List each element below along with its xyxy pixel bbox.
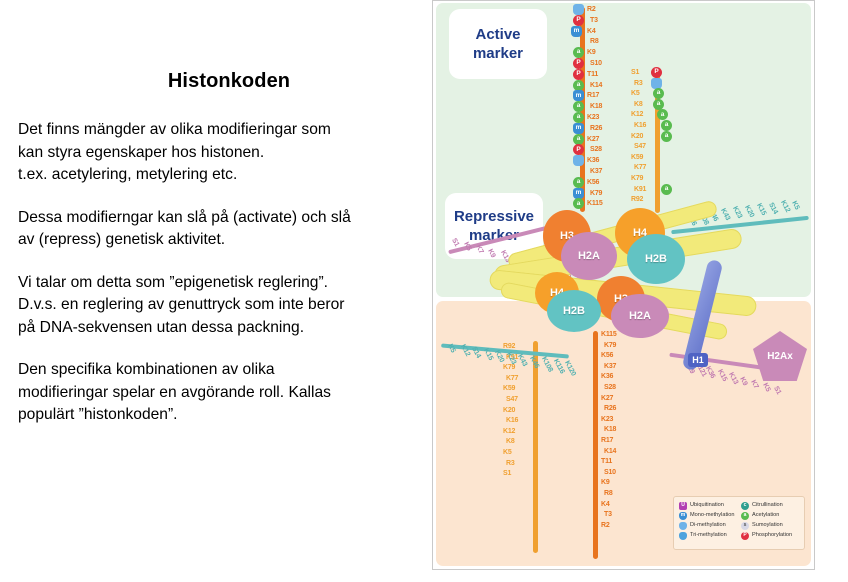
legend-label: Di-methylation bbox=[690, 521, 726, 530]
legend-glyph-ubiquitination-icon: U bbox=[679, 502, 687, 510]
active-marker-line2: marker bbox=[473, 44, 523, 63]
modification-marker-h3-residue-active-k27: a bbox=[573, 134, 584, 145]
h4-residue-active-k91: K91 bbox=[634, 186, 646, 193]
h4-residue-repressive-k20: K20 bbox=[503, 407, 515, 414]
h3-tail-repressive bbox=[593, 331, 598, 559]
modification-marker-h4-residue-active-k16: a bbox=[661, 120, 672, 131]
legend-label: Tri-methylation bbox=[690, 531, 727, 540]
modification-marker-h3-residue-active-t11: P bbox=[573, 69, 584, 80]
h3-residue-repressive-k18: K18 bbox=[604, 426, 616, 433]
modification-marker-h3-residue-active-k79: m bbox=[573, 188, 584, 199]
h3-residue-repressive-k9: K9 bbox=[601, 479, 610, 486]
histone-blob-h2b-lower: H2B bbox=[547, 290, 601, 332]
h3-residue-active-k27: K27 bbox=[587, 136, 599, 143]
h3-residue-repressive-s28: S28 bbox=[604, 384, 616, 391]
h3-residue-repressive-k36: K36 bbox=[601, 373, 613, 380]
h3-residue-repressive-k115: K115 bbox=[601, 331, 617, 338]
h4-residue-repressive-k77: K77 bbox=[506, 375, 518, 382]
legend-glyph-di-methylation-icon bbox=[679, 522, 687, 530]
h3-residue-repressive-r2: R2 bbox=[601, 522, 610, 529]
h3-residue-repressive-r26: R26 bbox=[604, 405, 616, 412]
legend-label: Phosphorylation bbox=[752, 531, 792, 540]
legend-glyph-tri-methylation-icon bbox=[679, 532, 687, 540]
legend-label: Acetylation bbox=[752, 511, 779, 520]
h3-residue-active-t3: T3 bbox=[590, 17, 598, 24]
modification-marker-h3-residue-active-t3: P bbox=[573, 15, 584, 26]
legend-item-ubiquitination: UUbiquitination bbox=[679, 501, 737, 510]
h4-residue-repressive-k12: K12 bbox=[503, 428, 515, 435]
h3-residue-repressive-t11: T11 bbox=[601, 458, 612, 465]
body-paragraph-3: Vi talar om detta som ”epigenetisk regle… bbox=[18, 272, 430, 340]
h3-residue-repressive-r17: R17 bbox=[601, 437, 613, 444]
legend-glyph-mono-methylation-icon: m bbox=[679, 512, 687, 520]
h3-residue-repressive-k4: K4 bbox=[601, 501, 610, 508]
modification-marker-h3-residue-active-k36 bbox=[573, 155, 584, 166]
h4-residue-active-k8: K8 bbox=[634, 101, 643, 108]
h4-residue-active-r3: R3 bbox=[634, 80, 643, 87]
modification-marker-h3-residue-active-r17: m bbox=[573, 90, 584, 101]
h3-residue-active-k37: K37 bbox=[590, 168, 602, 175]
legend-item-citrullination: cCitrullination bbox=[741, 501, 799, 510]
h4-residue-repressive-s1: S1 bbox=[503, 470, 511, 477]
h4-residue-active-k5: K5 bbox=[631, 90, 640, 97]
legend-item-tri-methylation: Tri-methylation bbox=[679, 531, 737, 540]
h3-residue-active-s28: S28 bbox=[590, 146, 602, 153]
legend-label: Ubiquitination bbox=[690, 501, 724, 510]
h3-residue-active-k14: K14 bbox=[590, 82, 602, 89]
h4-tail-repressive bbox=[533, 341, 538, 553]
h4-residue-repressive-s47: S47 bbox=[506, 396, 518, 403]
h3-residue-active-r17: R17 bbox=[587, 92, 599, 99]
h4-residue-repressive-r3: R3 bbox=[506, 460, 515, 467]
h3-residue-active-r8: R8 bbox=[590, 38, 599, 45]
legend-glyph-citrullination-icon: c bbox=[741, 502, 749, 510]
modification-marker-h3-residue-active-k14: a bbox=[573, 80, 584, 91]
modification-marker-h3-residue-active-r2 bbox=[573, 4, 584, 15]
modification-marker-h3-residue-active-r26: m bbox=[573, 123, 584, 134]
body-paragraph-1: Det finns mängder av olika modifieringar… bbox=[18, 119, 430, 187]
h3-residue-active-k36: K36 bbox=[587, 157, 599, 164]
h1-label: H1 bbox=[688, 353, 708, 367]
h3-residue-active-s10: S10 bbox=[590, 60, 602, 67]
legend-label: Citrullination bbox=[752, 501, 783, 510]
slide-canvas: Histonkoden Det finns mängder av olika m… bbox=[0, 0, 848, 582]
legend-glyph-acetylation-icon: a bbox=[741, 512, 749, 520]
h3-residue-active-r2: R2 bbox=[587, 6, 596, 13]
modification-marker-h3-residue-active-k4: m bbox=[571, 26, 582, 37]
modification-legend: UUbiquitinationcCitrullinationmMono-meth… bbox=[673, 496, 805, 550]
h3-residue-active-k4: K4 bbox=[587, 28, 596, 35]
page-title: Histonkoden bbox=[18, 70, 430, 93]
legend-item-di-methylation: Di-methylation bbox=[679, 521, 737, 530]
active-marker-line1: Active bbox=[475, 25, 520, 44]
legend-glyph-sumoylation-icon: s bbox=[741, 522, 749, 530]
h3-residue-active-k79: K79 bbox=[590, 190, 602, 197]
h4-residue-repressive-k59: K59 bbox=[503, 385, 515, 392]
h4-residue-active-s1: S1 bbox=[631, 69, 639, 76]
h3-residue-active-t11: T11 bbox=[587, 71, 598, 78]
h3-residue-repressive-k23: K23 bbox=[601, 416, 613, 423]
h3-residue-active-k23: K23 bbox=[587, 114, 599, 121]
modification-marker-h3-residue-active-k23: a bbox=[573, 112, 584, 123]
active-marker-badge: Active marker bbox=[449, 9, 547, 79]
modification-marker-h4-residue-active-s1: P bbox=[651, 67, 662, 78]
h3-residue-active-k56: K56 bbox=[587, 179, 599, 186]
h4-residue-repressive-k79: K79 bbox=[503, 364, 515, 371]
modification-marker-h3-residue-active-k56: a bbox=[573, 177, 584, 188]
modification-marker-h4-residue-active-k8: a bbox=[653, 99, 664, 110]
h3-residue-active-k18: K18 bbox=[590, 103, 602, 110]
modification-marker-h4-residue-active-k91: a bbox=[661, 184, 672, 195]
modification-marker-h3-residue-active-s10: P bbox=[573, 58, 584, 69]
h4-residue-active-r92: R92 bbox=[631, 196, 643, 203]
h4-residue-repressive-k8: K8 bbox=[506, 438, 515, 445]
h4-residue-repressive-r92: R92 bbox=[503, 343, 515, 350]
h4-residue-active-k16: K16 bbox=[634, 122, 646, 129]
modification-marker-h4-residue-active-r3 bbox=[651, 78, 662, 89]
legend-label: Mono-methylation bbox=[690, 511, 734, 520]
figure-inner: Active marker Repressive marker R2T3PK4m… bbox=[433, 1, 814, 569]
h3-residue-repressive-k14: K14 bbox=[604, 448, 616, 455]
legend-item-mono-methylation: mMono-methylation bbox=[679, 511, 737, 520]
h3-residue-repressive-k56: K56 bbox=[601, 352, 613, 359]
h4-residue-active-k59: K59 bbox=[631, 154, 643, 161]
h3-residue-repressive-k79: K79 bbox=[604, 342, 616, 349]
legend-label: Sumoylation bbox=[752, 521, 783, 530]
h3-residue-repressive-k27: K27 bbox=[601, 395, 613, 402]
h3-residue-repressive-t3: T3 bbox=[604, 511, 612, 518]
histone-blob-h2a-lower: H2A bbox=[611, 294, 669, 338]
legend-item-phosphorylation: PPhosphorylation bbox=[741, 531, 799, 540]
body-paragraph-2: Dessa modifierngar kan slå på (activate)… bbox=[18, 207, 430, 252]
h4-residue-active-k79: K79 bbox=[631, 175, 643, 182]
h4-residue-active-k12: K12 bbox=[631, 111, 643, 118]
h4-residue-active-k77: K77 bbox=[634, 164, 646, 171]
h3-residue-repressive-s10: S10 bbox=[604, 469, 616, 476]
h4-residue-active-s47: S47 bbox=[634, 143, 646, 150]
legend-item-sumoylation: sSumoylation bbox=[741, 521, 799, 530]
h4-residue-repressive-k5: K5 bbox=[503, 449, 512, 456]
body-paragraph-4: Den specifika kombinationen av olika mod… bbox=[18, 359, 430, 427]
slide-text-column: Histonkoden Det finns mängder av olika m… bbox=[18, 70, 430, 427]
h4-residue-repressive-k16: K16 bbox=[506, 417, 518, 424]
histone-code-figure: Active marker Repressive marker R2T3PK4m… bbox=[432, 0, 815, 570]
h4-residue-active-k20: K20 bbox=[631, 133, 643, 140]
legend-glyph-phosphorylation-icon: P bbox=[741, 532, 749, 540]
modification-marker-h4-residue-active-k20: a bbox=[661, 131, 672, 142]
h3-residue-active-k9: K9 bbox=[587, 49, 596, 56]
histone-blob-h2b-upper: H2B bbox=[627, 234, 685, 284]
h3-residue-repressive-r8: R8 bbox=[604, 490, 613, 497]
histone-blob-h2a-upper: H2A bbox=[561, 232, 617, 280]
legend-item-acetylation: aAcetylation bbox=[741, 511, 799, 520]
h3-residue-active-r26: R26 bbox=[590, 125, 602, 132]
h3-residue-repressive-k37: K37 bbox=[604, 363, 616, 370]
